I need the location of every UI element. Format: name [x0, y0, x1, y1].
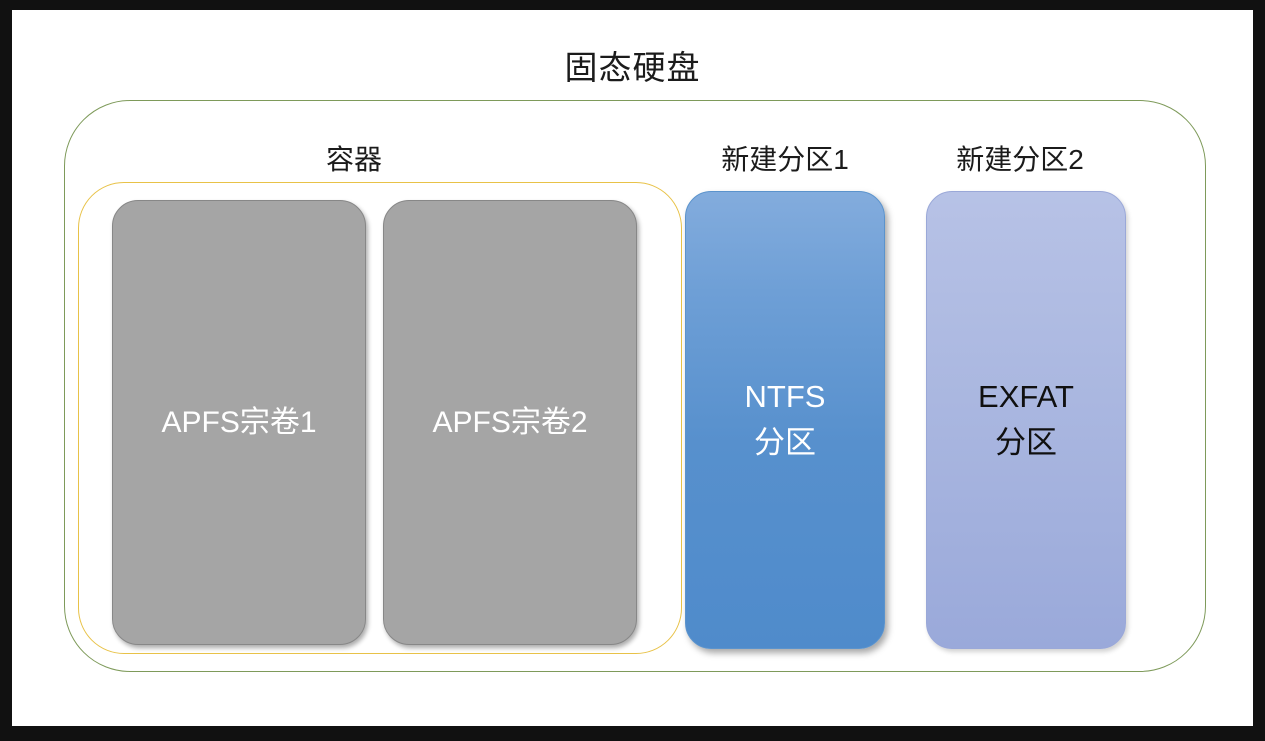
volume-label-2: APFS宗卷2	[432, 404, 587, 442]
partition-fs-type-2: 分区	[978, 420, 1074, 466]
partition-label-exfat: EXFAT 分区	[978, 374, 1074, 466]
diagram-canvas: 固态硬盘 容器 APFS宗卷1 APFS宗卷2 新建分区1 新建分区2 NTFS…	[12, 10, 1253, 726]
partition-fs-name-2: EXFAT	[978, 379, 1074, 414]
partition-label-ntfs: NTFS 分区	[745, 374, 826, 466]
outer-frame: 固态硬盘 容器 APFS宗卷1 APFS宗卷2 新建分区1 新建分区2 NTFS…	[0, 0, 1265, 741]
partition-title-2: 新建分区2	[900, 142, 1140, 178]
volume-label-1: APFS宗卷1	[161, 404, 316, 442]
partition-title-1: 新建分区1	[665, 142, 905, 178]
partition-box-ntfs[interactable]: NTFS 分区	[685, 191, 885, 649]
partition-fs-name-1: NTFS	[745, 379, 826, 414]
partition-box-exfat[interactable]: EXFAT 分区	[926, 191, 1126, 649]
volume-box-1[interactable]: APFS宗卷1	[112, 200, 366, 645]
page-title: 固态硬盘	[12, 48, 1253, 88]
volume-box-2[interactable]: APFS宗卷2	[383, 200, 637, 645]
container-label: 容器	[254, 142, 454, 178]
partition-fs-type-1: 分区	[745, 420, 826, 466]
